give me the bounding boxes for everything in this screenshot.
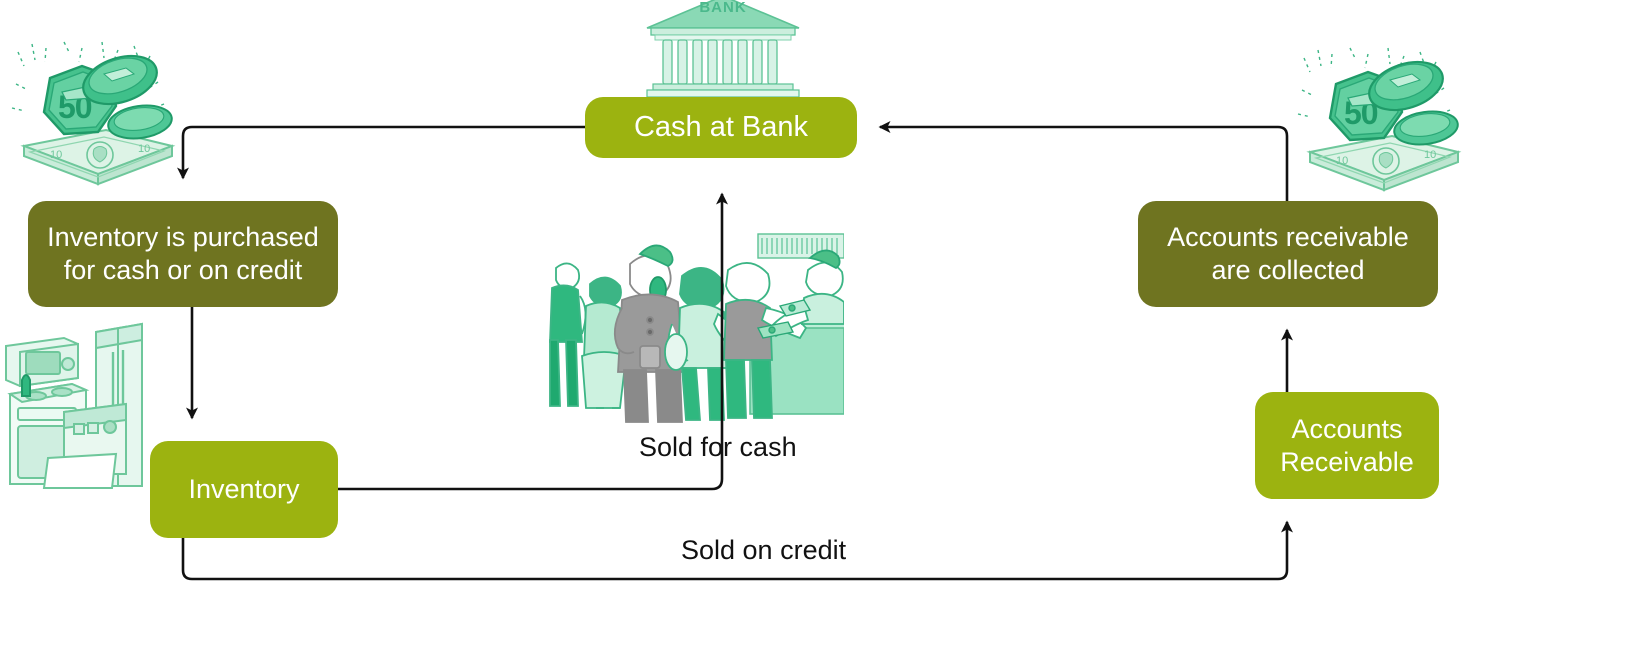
node-inventory[interactable]: Inventory <box>150 441 338 538</box>
node-inventory-is-purchased[interactable]: Inventory is purchased for cash or on cr… <box>28 201 338 307</box>
node-accounts-receivable-are-collected-label-line1: Accounts receivable <box>1167 221 1409 254</box>
node-accounts-receivable-are-collected[interactable]: Accounts receivable are collected <box>1138 201 1438 307</box>
node-inventory-label: Inventory <box>188 473 299 506</box>
node-accounts-receivable-are-collected-label-line2: are collected <box>1167 254 1409 287</box>
edge-label-sold-for-cash: Sold for cash <box>639 432 797 463</box>
edge-cash-to-purchase <box>183 127 585 178</box>
node-inventory-is-purchased-label-line2: for cash or on credit <box>47 254 319 287</box>
node-cash-at-bank-label: Cash at Bank <box>634 110 808 145</box>
node-accounts-receivable-label-line1: Accounts <box>1280 413 1414 446</box>
node-accounts-receivable-label-line2: Receivable <box>1280 446 1414 479</box>
edge-collected-to-cash <box>880 127 1287 201</box>
node-cash-at-bank[interactable]: Cash at Bank <box>585 97 857 158</box>
node-accounts-receivable[interactable]: Accounts Receivable <box>1255 392 1439 499</box>
diagram-canvas: 10 10 50 <box>0 0 1646 647</box>
node-inventory-is-purchased-label-line1: Inventory is purchased <box>47 221 319 254</box>
edge-label-sold-on-credit: Sold on credit <box>681 535 846 566</box>
